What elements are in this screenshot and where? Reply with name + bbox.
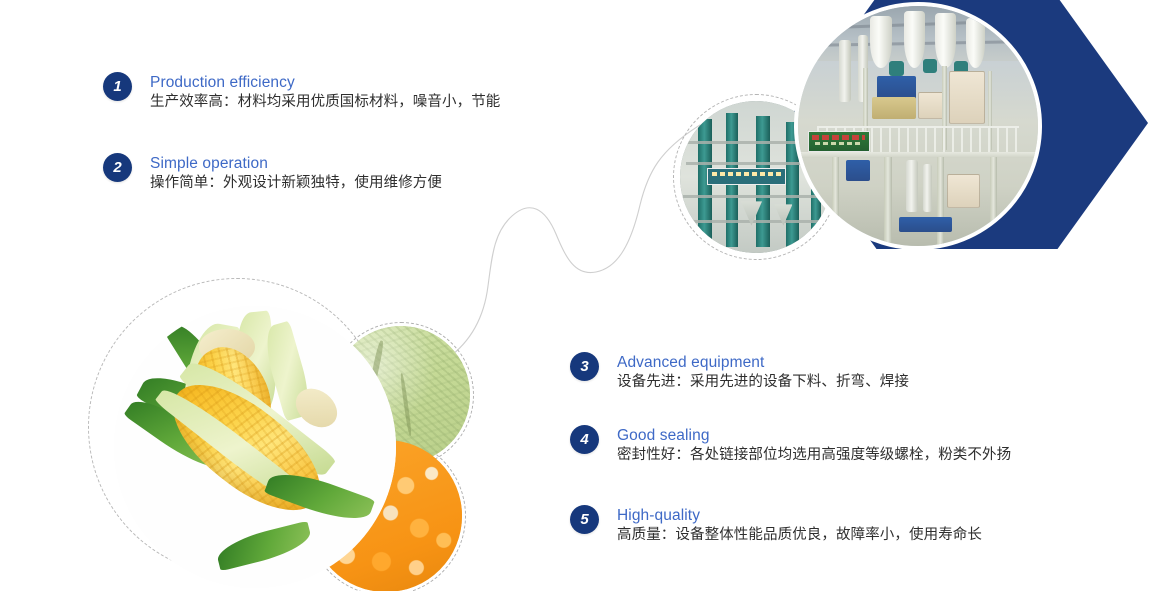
feature-title-1: Production efficiency xyxy=(150,73,500,92)
flour-mill-plant-photo xyxy=(794,2,1042,250)
corn-cob-photo xyxy=(114,306,396,588)
feature-badge-1: 1 xyxy=(103,72,132,101)
feature-badge-3: 3 xyxy=(570,352,599,381)
feature-item-5[interactable]: 5 High-quality 高质量：设备整体性能品质优良，故障率小，使用寿命长 xyxy=(570,505,982,546)
feature-badge-2: 2 xyxy=(103,153,132,182)
corn-media-group xyxy=(88,278,488,591)
feature-item-1[interactable]: 1 Production efficiency 生产效率高：材料均采用优质国标材… xyxy=(103,72,500,113)
feature-item-2[interactable]: 2 Simple operation 操作简单：外观设计新颖独特，使用维修方便 xyxy=(103,153,442,194)
feature-desc-2: 操作简单：外观设计新颖独特，使用维修方便 xyxy=(150,173,442,194)
hexagon-media-group xyxy=(676,0,1148,279)
feature-title-3: Advanced equipment xyxy=(617,353,909,372)
feature-item-3[interactable]: 3 Advanced equipment 设备先进：采用先进的设备下料、折弯、焊… xyxy=(570,352,909,393)
feature-desc-4: 密封性好：各处链接部位均选用高强度等级螺栓，粉类不外扬 xyxy=(617,445,1011,466)
feature-desc-3: 设备先进：采用先进的设备下料、折弯、焊接 xyxy=(617,372,909,393)
feature-text-1: Production efficiency 生产效率高：材料均采用优质国标材料，… xyxy=(150,72,500,113)
feature-text-5: High-quality 高质量：设备整体性能品质优良，故障率小，使用寿命长 xyxy=(617,505,982,546)
feature-item-4[interactable]: 4 Good sealing 密封性好：各处链接部位均选用高强度等级螺栓，粉类不… xyxy=(570,425,1011,466)
feature-title-5: High-quality xyxy=(617,506,982,525)
feature-text-2: Simple operation 操作简单：外观设计新颖独特，使用维修方便 xyxy=(150,153,442,194)
feature-title-2: Simple operation xyxy=(150,154,442,173)
feature-badge-5: 5 xyxy=(570,505,599,534)
infographic-canvas: 1 Production efficiency 生产效率高：材料均采用优质国标材… xyxy=(0,0,1154,591)
feature-title-4: Good sealing xyxy=(617,426,1011,445)
feature-text-4: Good sealing 密封性好：各处链接部位均选用高强度等级螺栓，粉类不外扬 xyxy=(617,425,1011,466)
feature-badge-4: 4 xyxy=(570,425,599,454)
feature-desc-5: 高质量：设备整体性能品质优良，故障率小，使用寿命长 xyxy=(617,525,982,546)
feature-desc-1: 生产效率高：材料均采用优质国标材料，噪音小，节能 xyxy=(150,92,500,113)
feature-text-3: Advanced equipment 设备先进：采用先进的设备下料、折弯、焊接 xyxy=(617,352,909,393)
